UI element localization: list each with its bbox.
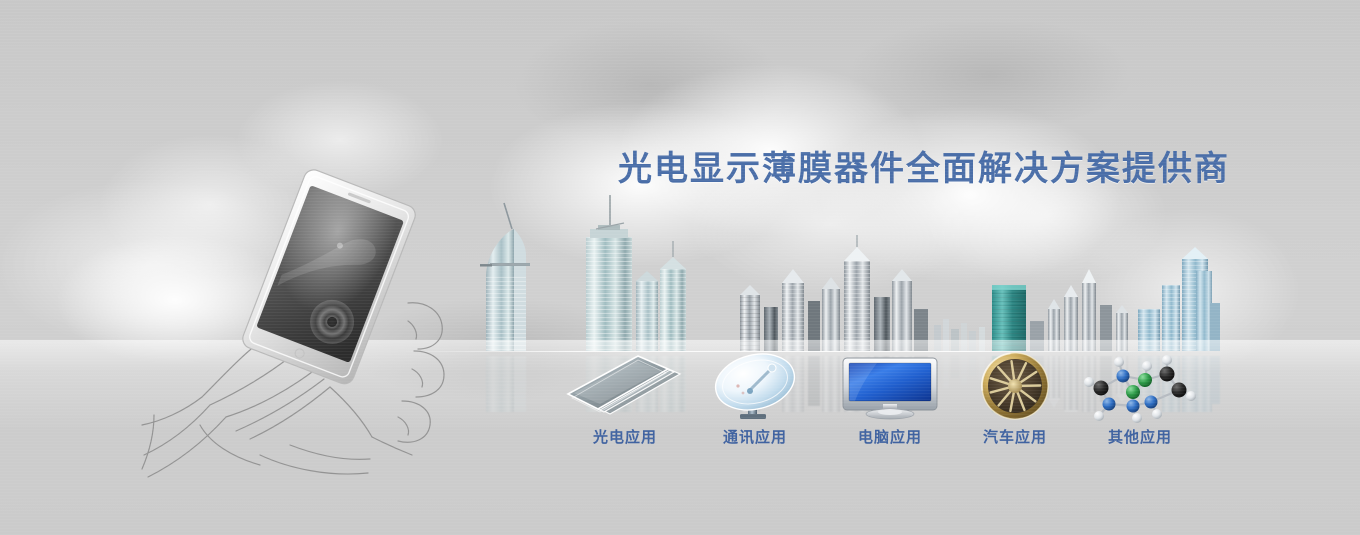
application-label: 光电应用 [560,426,690,447]
atom-hydrogen [1162,355,1172,365]
application-icon-row: 光电应用 [560,352,1210,462]
atom-green [1126,385,1140,399]
atom-hydrogen [1132,413,1142,423]
atom-nitrogen [1127,400,1140,413]
car-wheel-icon [950,352,1080,424]
application-item-other[interactable]: 其他应用 [1075,352,1205,447]
application-item-optoelectronic[interactable]: 光电应用 [560,352,690,447]
atom-hydrogen [1152,409,1162,419]
atom-nitrogen [1117,370,1130,383]
application-label: 通讯应用 [690,426,820,447]
atom-hydrogen [1084,377,1094,387]
atom-hydrogen [1142,361,1152,371]
city-skyline [440,185,1220,355]
computer-monitor-icon [825,352,955,424]
hand-holding-phone-illustration [140,125,480,495]
skyline-buildings [480,195,1220,351]
atom-carbon [1172,383,1187,398]
atom-hydrogen [1114,357,1124,367]
atom-green [1138,373,1152,387]
application-item-communication[interactable]: 通讯应用 [690,352,820,447]
application-item-automotive[interactable]: 汽车应用 [950,352,1080,447]
application-label: 汽车应用 [950,426,1080,447]
application-label: 电脑应用 [825,426,955,447]
atom-carbon [1094,381,1109,396]
glass-sheets-icon [560,352,690,424]
application-label: 其他应用 [1075,426,1205,447]
atom-hydrogen [1094,411,1104,421]
atom-nitrogen [1145,396,1158,409]
page-title: 光电显示薄膜器件全面解决方案提供商 [618,141,1230,190]
atom-hydrogen [1186,391,1196,401]
atom-carbon [1160,367,1175,382]
molecule-icon [1075,352,1205,424]
hero-banner: 光电显示薄膜器件全面解决方案提供商 [0,0,1360,535]
satellite-dish-icon [690,352,820,424]
atom-nitrogen [1103,398,1116,411]
application-item-computer[interactable]: 电脑应用 [825,352,955,447]
